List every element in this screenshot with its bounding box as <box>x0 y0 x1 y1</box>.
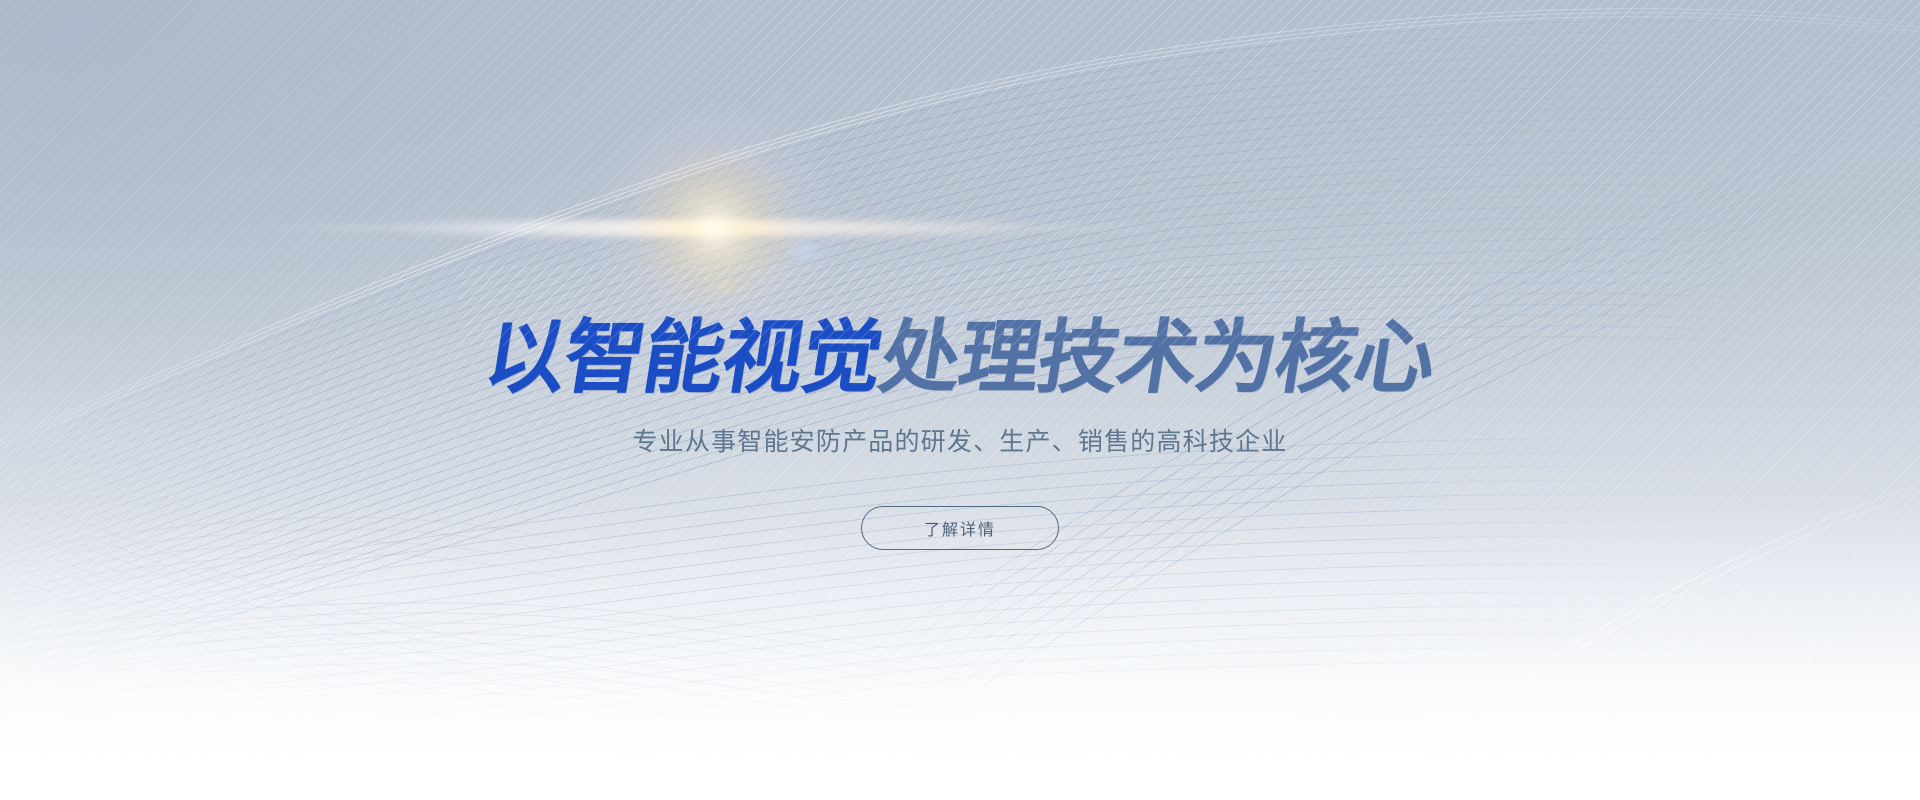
hero-content: 以智能视觉处理技术为核心 专业从事智能安防产品的研发、生产、销售的高科技企业 了… <box>0 0 1920 800</box>
headline-segment-secondary: 处理技术为核心 <box>875 318 1441 398</box>
hero-headline: 以智能视觉处理技术为核心 <box>0 318 1920 398</box>
headline-segment-primary: 以智能视觉 <box>480 318 888 398</box>
learn-more-button[interactable]: 了解详情 <box>861 506 1059 550</box>
hero-subtitle: 专业从事智能安防产品的研发、生产、销售的高科技企业 <box>0 425 1920 459</box>
hero-banner: 以智能视觉处理技术为核心 专业从事智能安防产品的研发、生产、销售的高科技企业 了… <box>0 0 1920 800</box>
